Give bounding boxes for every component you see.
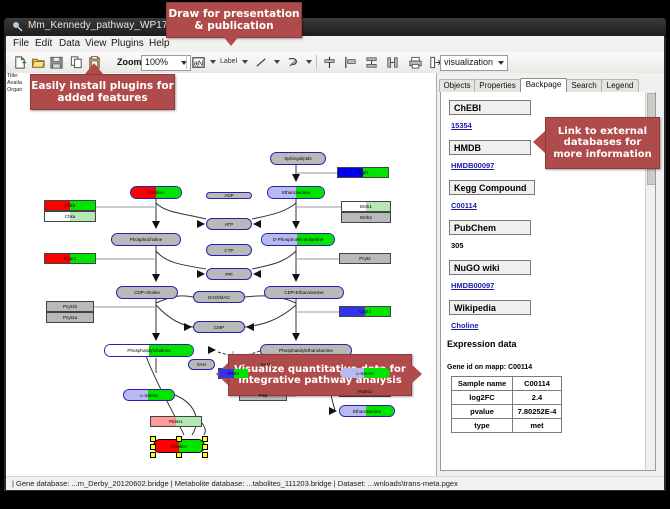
node-phosphatidylcholines[interactable]: Phosphatidylcholines (104, 344, 194, 357)
node-l-serine-right[interactable]: L-Serine (339, 367, 391, 379)
same-width-icon[interactable] (385, 55, 400, 70)
print-icon[interactable] (408, 55, 423, 70)
nugo-link[interactable]: HMDB00097 (451, 281, 494, 290)
canvas-info-organ: Organ (7, 87, 22, 95)
wikipedia-link[interactable]: Choline (451, 321, 479, 330)
screenshot-root: Mm_Kennedy_pathway_WP1771_45176.gpml Fil… (0, 0, 670, 509)
gene-etnk1[interactable]: Etnk1 (341, 201, 391, 212)
cell-key: Sample name (452, 377, 513, 391)
tab-search[interactable]: Search (566, 79, 602, 92)
title-bar[interactable]: Mm_Kennedy_pathway_WP1771_45176.gpml (4, 18, 666, 37)
callout-plugins-line1: Easily install plugins for (31, 80, 174, 92)
cell-value: 7.80252E-4 (513, 405, 562, 419)
gene-chka[interactable]: Chka (44, 211, 96, 222)
selection-handle-w[interactable] (150, 444, 156, 450)
callout-links-arrow-icon (533, 131, 545, 153)
menu-bar: File Edit Data View Plugins Help (6, 36, 664, 53)
align-left-icon[interactable] (343, 55, 358, 70)
gene-pcyt2[interactable]: Pcyt2 (339, 253, 391, 264)
gene-pcyt1b[interactable]: Pcyt1b (46, 301, 94, 312)
callout-links: Link to external databases for more info… (545, 117, 660, 169)
table-row: Sample name C00114 (452, 377, 562, 391)
app-icon (12, 21, 24, 33)
align-center-icon[interactable] (322, 55, 337, 70)
label-tool-text[interactable]: Label (220, 58, 237, 65)
svg-text:aN: aN (194, 58, 204, 67)
new-file-icon[interactable] (13, 55, 28, 70)
gene-pemt[interactable]: Pemt (218, 368, 249, 379)
node-ctp[interactable]: CTP (206, 244, 252, 256)
tab-properties[interactable]: Properties (474, 79, 521, 92)
copy-icon[interactable] (69, 55, 84, 70)
kegg-header: Kegg Compound (449, 180, 535, 195)
node-o-phosphoethanolamine[interactable]: O-Phosphoethanolamine (261, 233, 335, 246)
callout-links-line2: databases for (564, 137, 642, 149)
save-icon[interactable] (49, 55, 64, 70)
interaction-icon[interactable] (286, 55, 301, 70)
chebi-header: ChEBI (449, 100, 531, 115)
cell-value: C00114 (513, 377, 562, 391)
datanode-icon[interactable]: aN (191, 55, 206, 70)
menu-data[interactable]: Data (56, 38, 83, 49)
node-adp[interactable]: ADP (206, 192, 252, 199)
node-cmp[interactable]: CMP (193, 321, 245, 333)
menu-help[interactable]: Help (146, 38, 173, 49)
hmdb-header: HMDB (449, 140, 531, 155)
node-cdp-choline[interactable]: CDP-choline (116, 286, 178, 299)
open-folder-icon[interactable] (31, 55, 46, 70)
chebi-link[interactable]: 15354 (451, 121, 472, 130)
gene-pcyt1a[interactable]: Pcyt1a (46, 312, 94, 323)
node-dag-mag[interactable]: DAG/MAG (193, 291, 245, 303)
selection-handle-s[interactable] (176, 452, 182, 458)
callout-draw: Draw for presentation & publication (166, 2, 302, 38)
status-text: | Gene database: ...m_Derby_20120602.bri… (12, 479, 458, 488)
wikipedia-header: Wikipedia (449, 300, 531, 315)
callout-links-line1: Link to external (558, 126, 647, 138)
gene-chkb[interactable]: Chkb (44, 200, 96, 211)
gene-ptdss1[interactable]: Ptdss1 (150, 416, 202, 427)
toolbar-separator (186, 55, 187, 69)
chevron-down-icon-2 (498, 61, 504, 65)
gene-sgpl1[interactable]: Sgpl1 (337, 167, 389, 178)
node-sah[interactable]: SAH (188, 359, 215, 370)
callout-plugins: Easily install plugins for added feature… (30, 74, 175, 110)
menu-plugins[interactable]: Plugins (108, 38, 147, 49)
callout-links-line3: more information (553, 149, 652, 161)
selection-handle-n[interactable] (176, 436, 182, 442)
visualization-combo[interactable]: visualization (440, 55, 508, 71)
gene-id-on-mapp: Gene id on mapp: C00114 (447, 364, 532, 371)
tab-backpage[interactable]: Backpage (520, 78, 567, 92)
callout-plugins-arrow-icon (85, 63, 103, 74)
gene-chpt1[interactable]: Chpt1 (44, 253, 96, 264)
menu-view[interactable]: View (82, 38, 110, 49)
table-row: type met (452, 419, 562, 433)
callout-draw-line2: & publication (194, 20, 273, 32)
table-row: log2FC 2.4 (452, 391, 562, 405)
line-icon[interactable] (254, 55, 269, 70)
callout-visualize-arrow-right-icon (410, 363, 422, 385)
label-dropdown-icon[interactable] (242, 60, 248, 64)
visualization-value: visualization (444, 57, 493, 67)
selection-handle-e[interactable] (202, 444, 208, 450)
gene-cept1[interactable]: Cept1 (339, 306, 391, 317)
status-bar: | Gene database: ...m_Derby_20120602.bri… (6, 476, 664, 490)
line-dropdown-icon[interactable] (274, 60, 280, 64)
hmdb-link[interactable]: HMDB00097 (451, 161, 494, 170)
side-panel-tabs: Objects Properties Backpage Search Legen… (439, 79, 662, 92)
cell-value: met (513, 419, 562, 433)
node-ethanolamine-bottom[interactable]: Ethanolamine (339, 405, 395, 417)
callout-draw-arrow-icon (222, 35, 240, 46)
selection-handle-se[interactable] (202, 452, 208, 458)
table-row: pvalue 7.80252E-4 (452, 405, 562, 419)
pubchem-header: PubChem (449, 220, 531, 235)
node-choline-top[interactable]: Choline (130, 186, 182, 199)
node-sphingolipids[interactable]: Sphingolipids (270, 152, 326, 165)
menu-file[interactable]: File (10, 38, 32, 49)
node-l-serine-left[interactable]: L-Serine (123, 389, 175, 401)
node-ethanolamine[interactable]: Ethanolamine (267, 186, 325, 199)
cell-key: type (452, 419, 513, 433)
datanode-dropdown-icon[interactable] (210, 60, 216, 64)
interaction-dropdown-icon[interactable] (306, 60, 312, 64)
selection-handle-ne[interactable] (202, 436, 208, 442)
cell-key: pvalue (452, 405, 513, 419)
selection-handle-sw[interactable] (150, 452, 156, 458)
kegg-link[interactable]: C00114 (451, 201, 477, 210)
cell-key: log2FC (452, 391, 513, 405)
callout-plugins-line2: added features (57, 92, 147, 104)
expression-data-title: Expression data (447, 339, 517, 349)
nugo-header: NuGO wiki (449, 260, 531, 275)
selection-handle-nw[interactable] (150, 436, 156, 442)
pubchem-value: 305 (451, 241, 464, 250)
node-cdp-ethanolamine[interactable]: CDP-Ethanolamine (264, 286, 344, 299)
toolbar-separator-2 (316, 55, 317, 69)
gene-etnk2[interactable]: Etnk2 (341, 212, 391, 223)
tab-legend[interactable]: Legend (601, 79, 639, 92)
distribute-icon[interactable] (364, 55, 379, 70)
toolbar: Zoom: 100% aN Label (6, 52, 664, 74)
callout-draw-line1: Draw for presentation (168, 8, 299, 20)
node-ppi[interactable]: PPi (206, 268, 252, 280)
menu-edit[interactable]: Edit (32, 38, 55, 49)
pathway-canvas[interactable]: Title: Availa Organ (6, 73, 437, 476)
node-atp[interactable]: ATP (206, 218, 252, 230)
tab-objects[interactable]: Objects (439, 79, 475, 92)
cell-value: 2.4 (513, 391, 562, 405)
expression-data-table: Sample name C00114 log2FC 2.4 pvalue 7.8… (451, 376, 562, 433)
zoom-value: 100% (145, 57, 168, 67)
node-phosphocholine[interactable]: Phosphocholine (111, 233, 181, 246)
zoom-combo[interactable]: 100% (141, 55, 191, 71)
